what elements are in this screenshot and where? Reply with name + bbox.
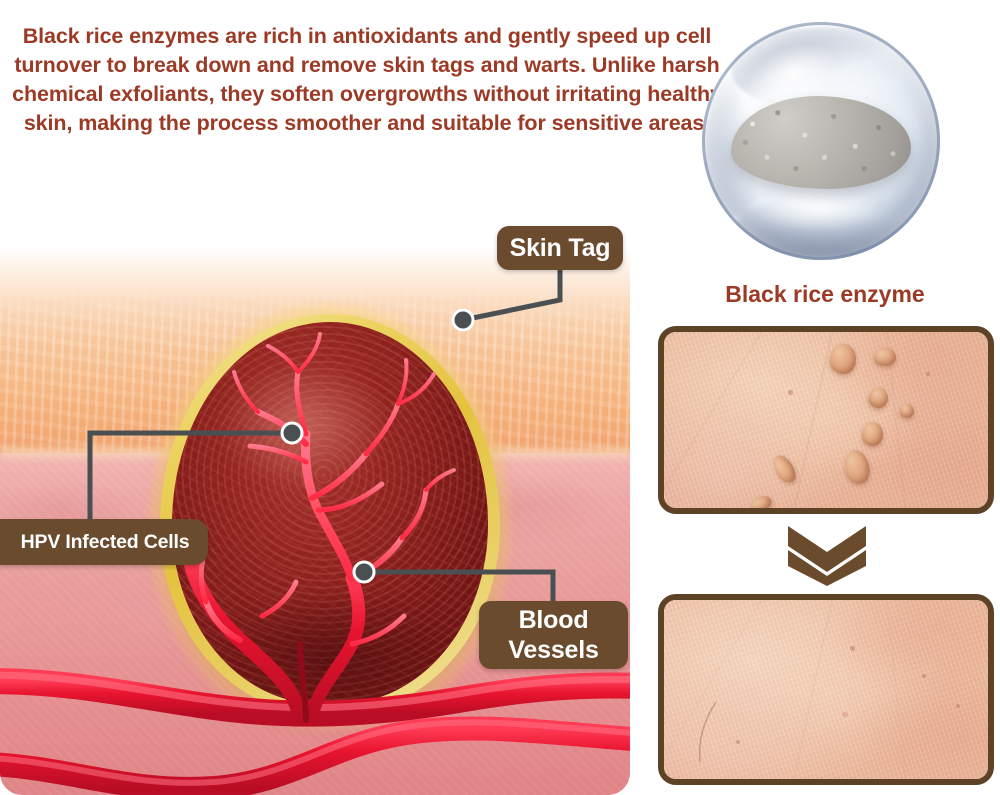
ingredient-caption: Black rice enzyme [660,281,990,308]
before-skin-creases [664,332,988,508]
callout-skin-tag[interactable]: Skin Tag [497,226,623,270]
double-chevron-down-icon [786,524,868,586]
skin-freckle [788,390,793,395]
after-skin-hairline [664,600,988,779]
callout-blood-vessels[interactable]: Blood Vessels [479,601,628,669]
callout-blood-line1: Blood [508,605,598,635]
callout-blood-line2: Vessels [508,635,598,665]
sphere-rim [702,22,940,260]
skin-tag-blob [830,344,856,374]
skin-tag-blob [900,404,914,418]
infographic-page: Black rice enzymes are rich in antioxida… [0,0,1000,795]
before-photo-frame [658,326,994,514]
black-rice-enzyme-sphere [702,22,940,260]
skin-freckle [926,372,930,376]
skin-tag-blob [862,422,883,446]
before-skin-photo [664,332,988,508]
callout-hpv-infected-cells[interactable]: HPV Infected Cells [0,519,208,565]
skin-tag-blob [874,348,896,366]
headline-paragraph: Black rice enzymes are rich in antioxida… [6,22,728,138]
after-photo-frame [658,594,994,785]
after-skin-photo [664,600,988,779]
